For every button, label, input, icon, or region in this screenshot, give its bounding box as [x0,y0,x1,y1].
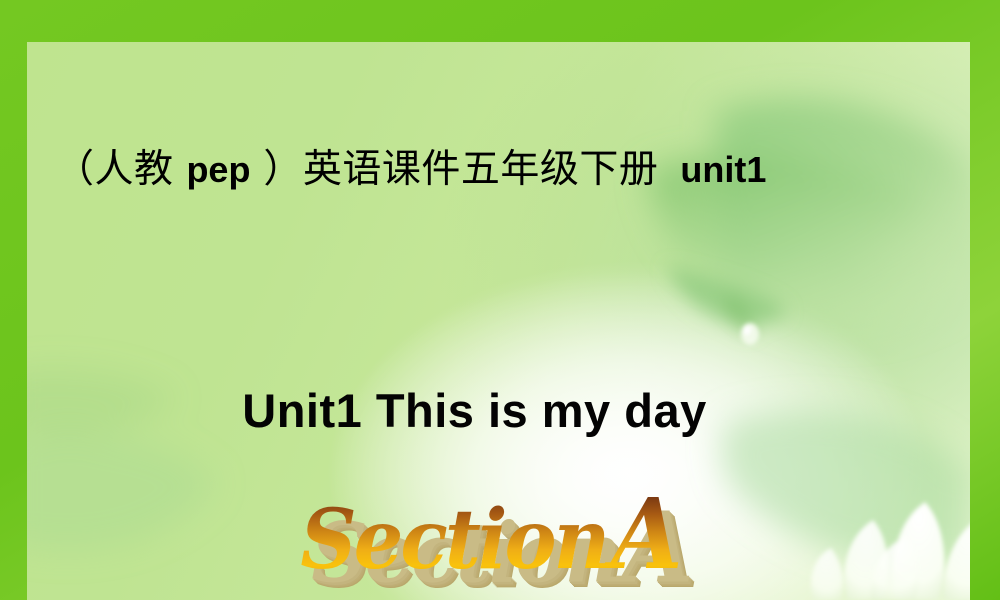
course-title-paren-open: （ [55,147,95,192]
course-title-paren-close: ） [263,147,303,192]
unit-title-text: Unit1 This is my day [242,384,706,437]
leaf-shape [647,100,970,332]
course-title-line: （人教 pep ）英语课件五年级下册unit1 [55,148,766,193]
course-title-publisher-latin: pep [186,149,250,190]
section-wordart: SectionA SectionA [27,488,970,600]
slide-content-panel: （人教 pep ）英语课件五年级下册unit1 Unit1 This is my… [27,42,970,600]
unit-title: Unit1 This is my day [27,383,970,438]
course-title-subject: 英语课件五年级下册 [303,147,659,192]
section-wordart-face: SectionA [300,485,680,583]
leaf-tip [667,267,787,334]
water-droplet [741,323,759,345]
presentation-slide: （人教 pep ）英语课件五年级下册unit1 Unit1 This is my… [0,0,1000,600]
section-wordart-word: Section [300,492,607,588]
course-title-unit: unit1 [680,149,766,190]
section-wordart-letter: A [611,477,680,591]
course-title-publisher-cn: 人教 [95,147,174,192]
